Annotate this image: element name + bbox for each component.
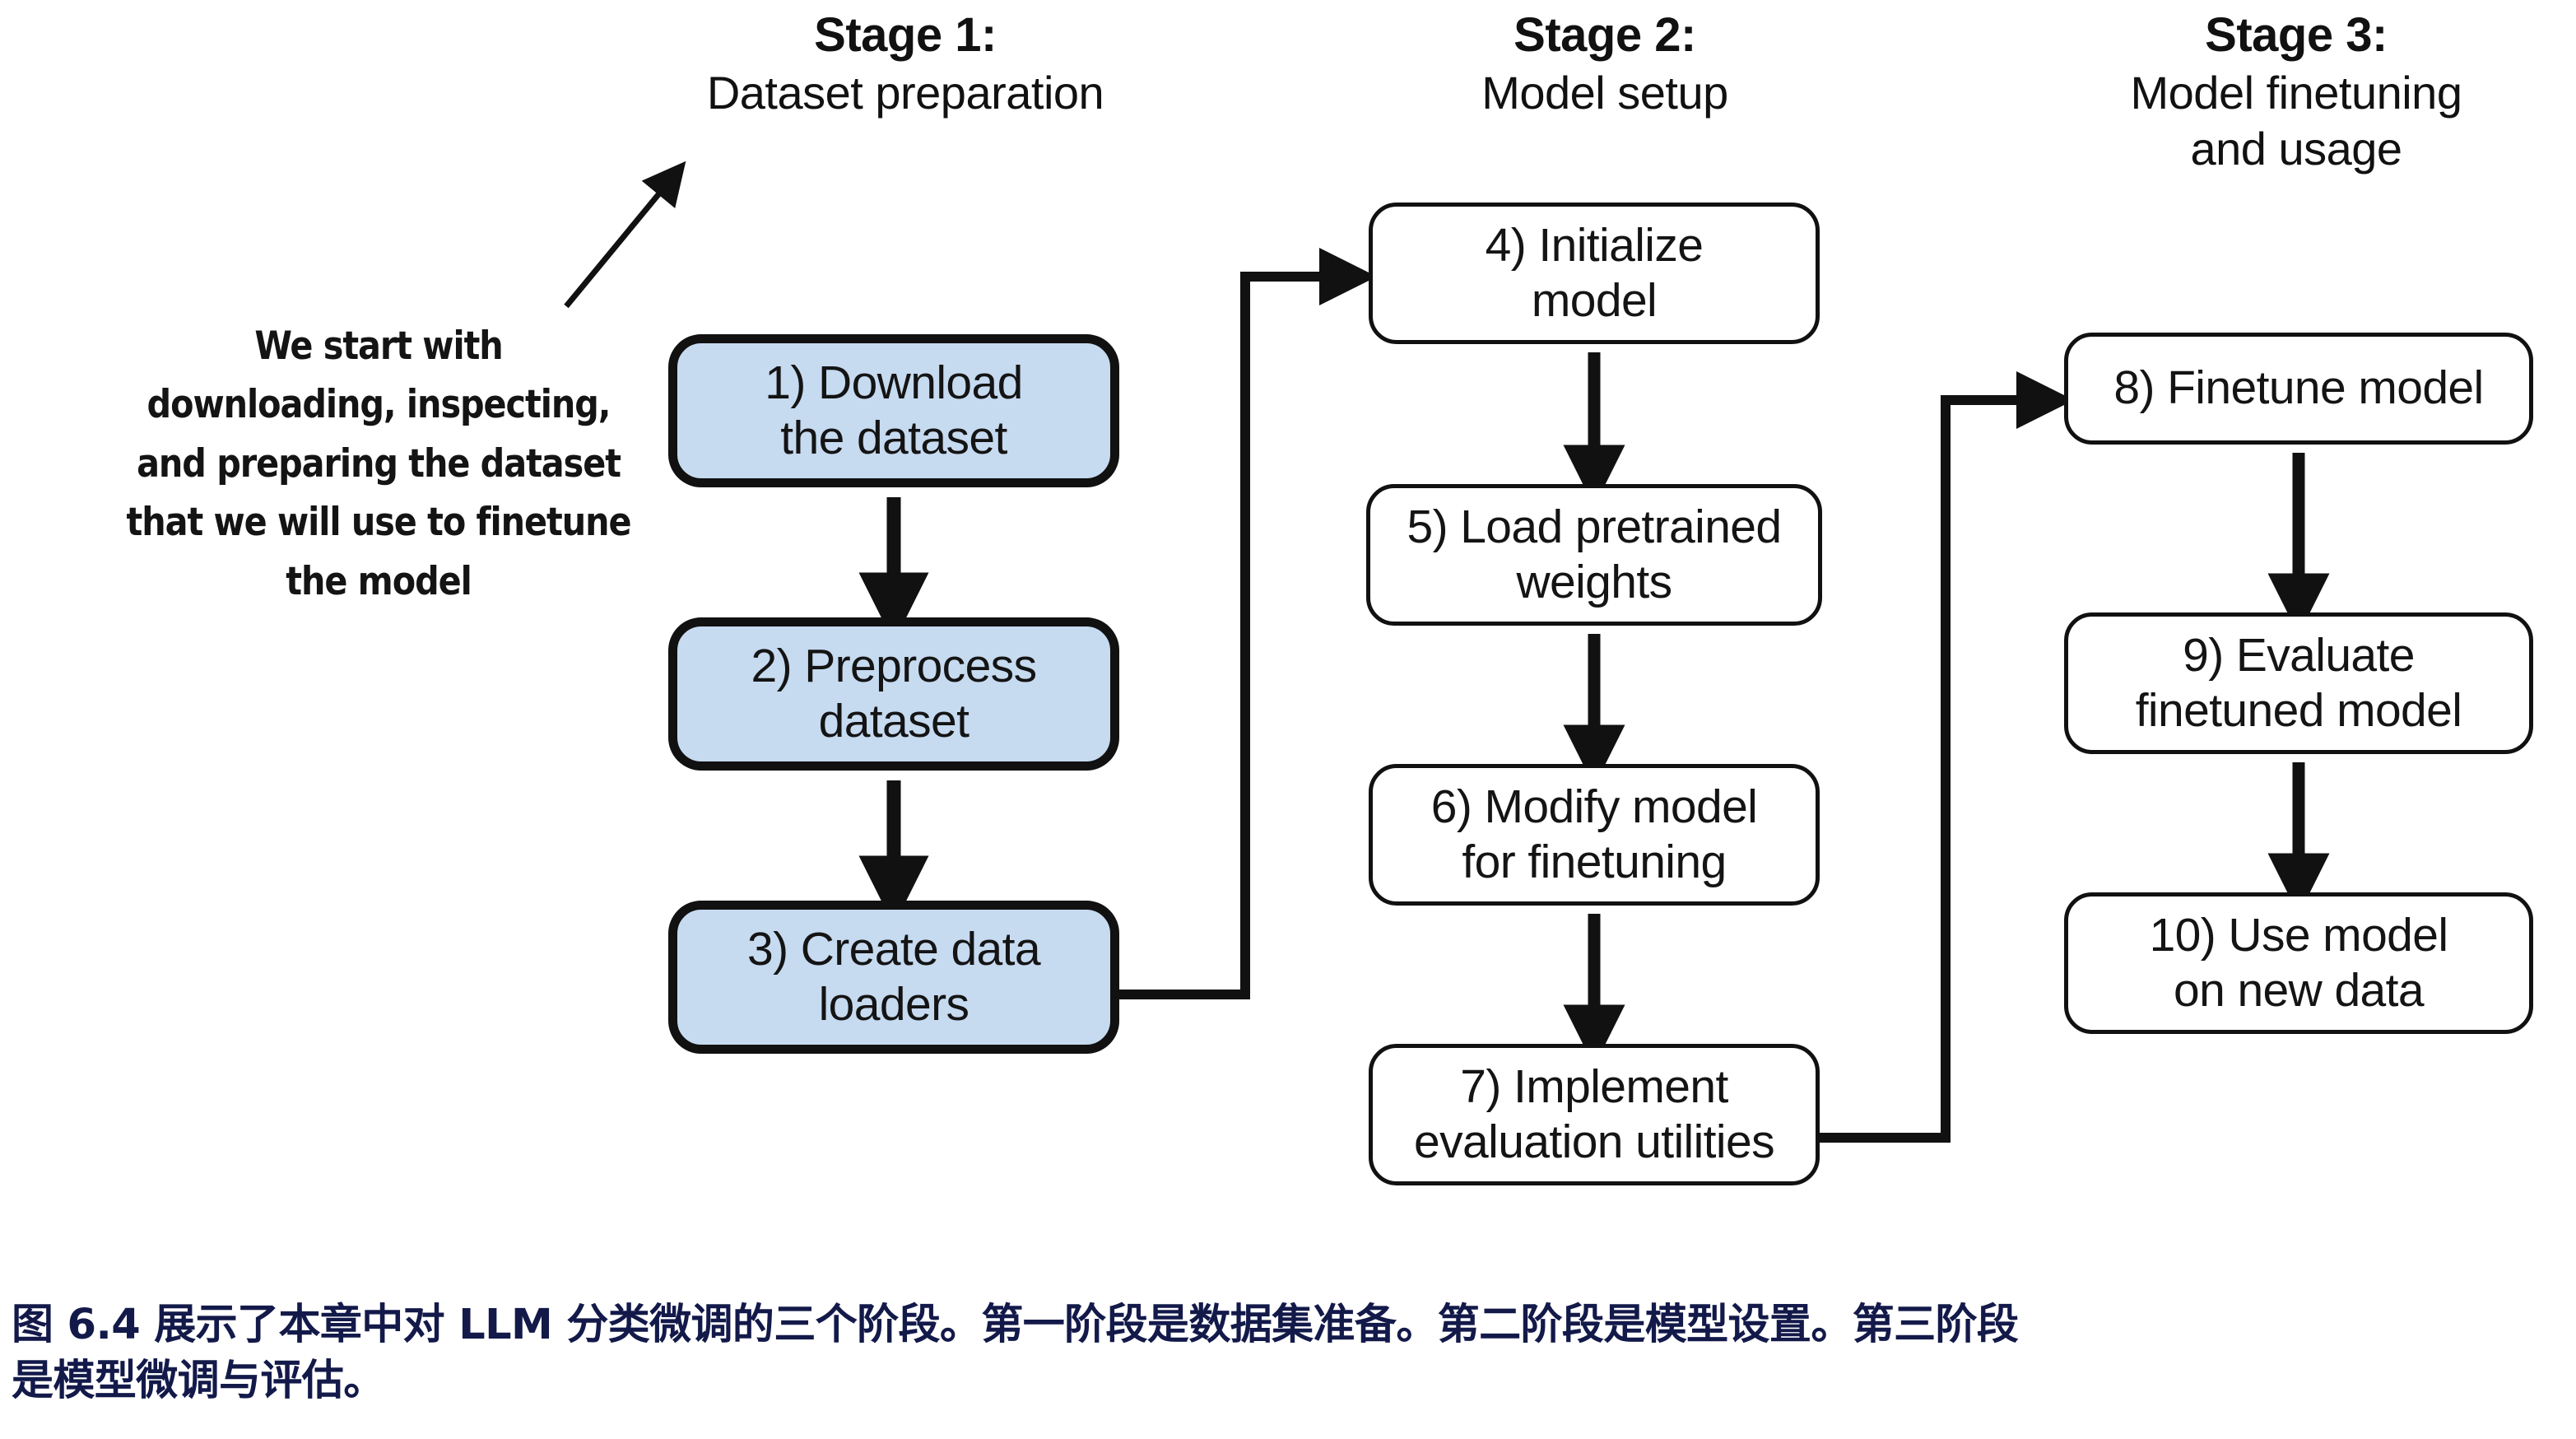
node-load-pretrained-weights[interactable]: 5) Load pretrained weights (1366, 484, 1822, 626)
start-note: We start with downloading, inspecting, a… (125, 317, 632, 611)
node-use-model-on-new-data[interactable]: 10) Use model on new data (2064, 892, 2533, 1034)
stage-2-subtitle: Model setup (1317, 65, 1893, 121)
start-note-line-1: We start with (125, 317, 632, 375)
node-initialize-model[interactable]: 4) Initialize model (1369, 203, 1820, 344)
node-finetune-model[interactable]: 8) Finetune model (2064, 333, 2533, 445)
node-7-line-2: evaluation utilities (1414, 1115, 1774, 1168)
stage-3-subtitle-line-2: and usage (2016, 121, 2576, 177)
stage-3-header: Stage 3: Model finetuning and usage (2016, 7, 2576, 177)
stage-2-kicker: Stage 2: (1317, 7, 1893, 65)
stage-1-header: Stage 1: Dataset preparation (576, 7, 1235, 121)
node-3-line-1: 3) Create data (747, 923, 1040, 976)
node-9-line-2: finetuned model (2136, 684, 2462, 737)
node-create-data-loaders[interactable]: 3) Create data loaders (668, 901, 1119, 1054)
start-note-line-5: the model (125, 552, 632, 611)
arrow-3-to-4 (1119, 277, 1354, 994)
node-10-line-1: 10) Use model (2150, 909, 2448, 962)
start-note-line-3: and preparing the dataset (125, 435, 632, 493)
node-1-line-1: 1) Download (765, 356, 1022, 409)
node-3-line-2: loaders (819, 978, 969, 1031)
node-4-line-1: 4) Initialize (1486, 219, 1704, 272)
node-1-line-2: the dataset (780, 412, 1007, 464)
arrow-7-to-8 (1820, 400, 2051, 1138)
node-5-line-1: 5) Load pretrained (1407, 501, 1781, 553)
node-implement-evaluation-utilities[interactable]: 7) Implement evaluation utilities (1369, 1044, 1820, 1185)
stage-2-header: Stage 2: Model setup (1317, 7, 1893, 121)
node-download-the-dataset[interactable]: 1) Download the dataset (668, 334, 1119, 487)
node-preprocess-dataset[interactable]: 2) Preprocess dataset (668, 617, 1119, 771)
node-5-line-2: weights (1516, 556, 1672, 608)
node-modify-model-for-finetuning[interactable]: 6) Modify model for finetuning (1369, 764, 1820, 906)
node-evaluate-finetuned-model[interactable]: 9) Evaluate finetuned model (2064, 612, 2533, 754)
figure-caption: 图 6.4 展示了本章中对 LLM 分类微调的三个阶段。第一阶段是数据集准备。第… (12, 1297, 2571, 1410)
node-2-line-1: 2) Preprocess (751, 640, 1036, 692)
node-8-line-1: 8) Finetune model (2113, 361, 2483, 414)
node-6-line-1: 6) Modify model (1431, 780, 1758, 833)
start-note-line-4: that we will use to finetune (125, 493, 632, 552)
stage-1-subtitle: Dataset preparation (576, 65, 1235, 121)
node-10-line-2: on new data (2174, 964, 2424, 1017)
stage-3-subtitle-line-1: Model finetuning (2016, 65, 2576, 121)
node-9-line-1: 9) Evaluate (2183, 629, 2415, 682)
node-4-line-2: model (1532, 274, 1657, 327)
figure-caption-line-1: 图 6.4 展示了本章中对 LLM 分类微调的三个阶段。第一阶段是数据集准备。第… (12, 1297, 2571, 1353)
start-note-arrow-icon (566, 175, 675, 306)
stage-3-kicker: Stage 3: (2016, 7, 2576, 65)
figure-canvas: Stage 1: Dataset preparation Stage 2: Mo… (0, 0, 2576, 1284)
node-7-line-1: 7) Implement (1460, 1060, 1727, 1113)
figure-caption-line-2: 是模型微调与评估。 (12, 1353, 2571, 1409)
node-6-line-2: for finetuning (1462, 836, 1726, 888)
start-note-line-2: downloading, inspecting, (125, 375, 632, 434)
node-2-line-2: dataset (819, 695, 969, 747)
stage-1-kicker: Stage 1: (576, 7, 1235, 65)
